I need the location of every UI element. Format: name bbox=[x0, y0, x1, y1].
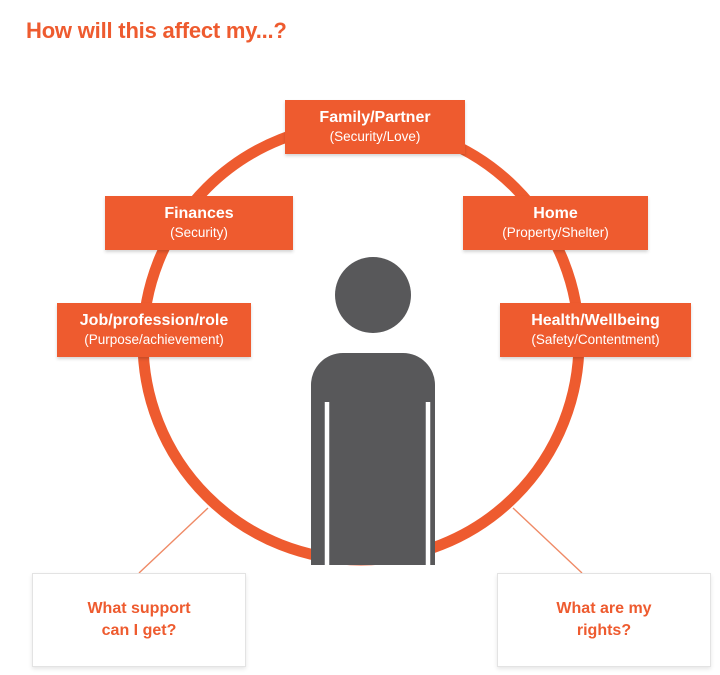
category-title: Health/Wellbeing bbox=[514, 312, 677, 330]
category-box-home[interactable]: Home (Property/Shelter) bbox=[463, 196, 648, 250]
question-card-text: What support can I get? bbox=[87, 598, 190, 641]
question-line-2: rights? bbox=[577, 622, 631, 639]
question-card-rights[interactable]: What are my rights? bbox=[497, 573, 711, 667]
category-box-health[interactable]: Health/Wellbeing (Safety/Contentment) bbox=[500, 303, 691, 357]
category-subtitle: (Security/Love) bbox=[299, 129, 451, 144]
connector-line-support bbox=[139, 508, 208, 573]
category-title: Job/profession/role bbox=[71, 312, 237, 330]
category-title: Finances bbox=[119, 205, 279, 223]
category-subtitle: (Security) bbox=[119, 225, 279, 240]
category-box-finances[interactable]: Finances (Security) bbox=[105, 196, 293, 250]
diagram-canvas: How will this affect my...? Family/Partn… bbox=[0, 0, 720, 675]
category-subtitle: (Safety/Contentment) bbox=[514, 332, 677, 347]
question-card-support[interactable]: What support can I get? bbox=[32, 573, 246, 667]
category-box-family[interactable]: Family/Partner (Security/Love) bbox=[285, 100, 465, 154]
connector-line-rights bbox=[513, 508, 582, 573]
question-line-2: can I get? bbox=[102, 622, 177, 639]
question-line-1: What support bbox=[87, 600, 190, 617]
category-title: Family/Partner bbox=[299, 109, 451, 127]
category-title: Home bbox=[477, 205, 634, 223]
question-card-text: What are my rights? bbox=[556, 598, 651, 641]
person-silhouette-icon bbox=[311, 257, 435, 565]
category-subtitle: (Purpose/achievement) bbox=[71, 332, 237, 347]
category-subtitle: (Property/Shelter) bbox=[477, 225, 634, 240]
question-line-1: What are my bbox=[556, 600, 651, 617]
category-box-job[interactable]: Job/profession/role (Purpose/achievement… bbox=[57, 303, 251, 357]
